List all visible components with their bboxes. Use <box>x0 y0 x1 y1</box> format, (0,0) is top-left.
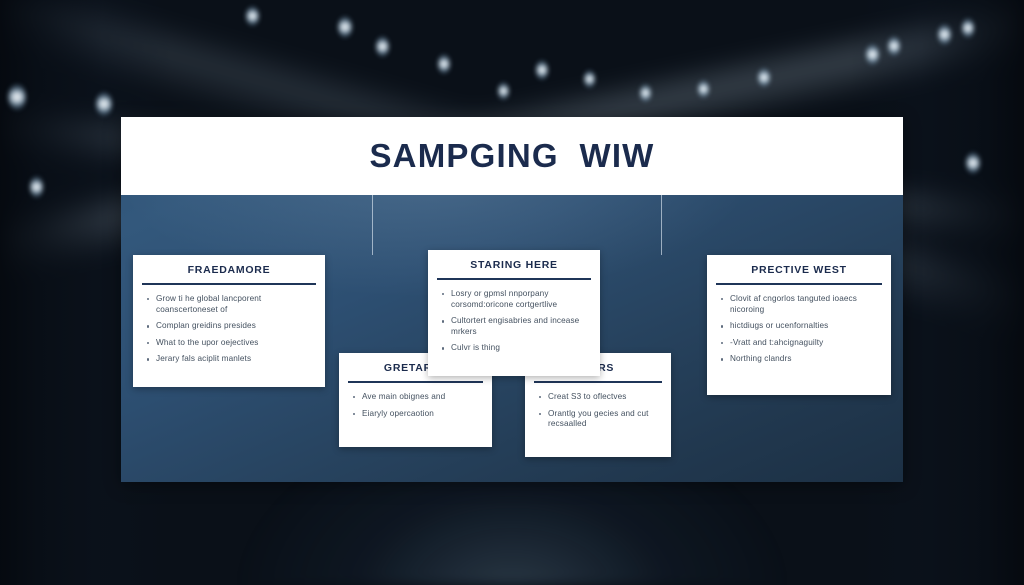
spotlight-icon <box>438 54 450 74</box>
list-item: Cultortert engisabries and incease mrker… <box>439 316 591 337</box>
spotlight-icon <box>338 16 352 38</box>
list-item: Creat S3 to oflectves <box>536 392 662 403</box>
spotlight-icon <box>8 84 26 110</box>
connector-line <box>372 195 373 255</box>
card-fraedamore[interactable]: FRAEDAMORE Grow ti he global lancporent … <box>133 255 325 387</box>
list-item: Clovit af cngorlos tanguted ioaecs nicor… <box>718 294 882 315</box>
card-gretart-bullets: Ave main obignes andEiaryly opercaotion <box>339 383 492 433</box>
spotlight-icon <box>938 24 951 45</box>
spotlight-icon <box>698 80 709 98</box>
card-fraedamore-bullets: Grow ti he global lancporent coanscerton… <box>133 285 325 379</box>
spotlight-icon <box>30 176 43 198</box>
spotlight-icon <box>966 152 980 174</box>
spotlight-icon <box>498 82 509 100</box>
list-item: What to the upor oejectives <box>144 338 316 349</box>
card-fraedamore-title: FRAEDAMORE <box>142 255 316 285</box>
spotlight-icon <box>866 44 879 65</box>
list-item: Culvr is thing <box>439 343 591 354</box>
list-item: Grow ti he global lancporent coanscerton… <box>144 294 316 315</box>
card-staring-here-bullets: Losry or gpmsl nnporpany corsomd:oricone… <box>428 280 600 368</box>
card-staring-here-title: STARING HERE <box>437 250 591 280</box>
list-item: -Vratt and t:ahcignaguilty <box>718 338 882 349</box>
spotlight-icon <box>584 70 595 88</box>
list-item: Ave main obignes and <box>350 392 483 403</box>
presentation-slide: SAMPGING WIW FRAEDAMORE Grow ti he globa… <box>121 117 903 482</box>
list-item: Orantlg you gecies and cut recsaalled <box>536 409 662 430</box>
list-item: Complan greidins presides <box>144 321 316 332</box>
connector-line <box>661 195 662 255</box>
page-title: SAMPGING WIW <box>369 137 654 175</box>
list-item: Jerary fals aciplit manlets <box>144 354 316 365</box>
spotlight-icon <box>758 68 770 87</box>
card-prective-west-title: PRECTIVE WEST <box>716 255 882 285</box>
spotlight-icon <box>962 18 974 38</box>
card-staring-here[interactable]: STARING HERE Losry or gpmsl nnporpany co… <box>428 250 600 376</box>
spotlight-icon <box>640 84 651 102</box>
spotlight-icon <box>536 60 548 80</box>
list-item: Eiaryly opercaotion <box>350 409 483 420</box>
list-item: Losry or gpmsl nnporpany corsomd:oricone… <box>439 289 591 310</box>
card-prective-west-bullets: Clovit af cngorlos tanguted ioaecs nicor… <box>707 285 891 379</box>
spotlight-icon <box>376 36 389 57</box>
slide-stage: SAMPGING WIW FRAEDAMORE Grow ti he globa… <box>0 0 1024 585</box>
slide-title-banner: SAMPGING WIW <box>121 117 903 195</box>
card-prective-west[interactable]: PRECTIVE WEST Clovit af cngorlos tangute… <box>707 255 891 395</box>
spotlight-icon <box>888 36 900 56</box>
list-item: hictdiugs or ucenfornalties <box>718 321 882 332</box>
list-item: Northing clandrs <box>718 354 882 365</box>
card-iors-bullets: Creat S3 to oflectvesOrantlg you gecies … <box>525 383 671 444</box>
spotlight-icon <box>96 92 112 116</box>
spotlight-icon <box>246 6 259 26</box>
